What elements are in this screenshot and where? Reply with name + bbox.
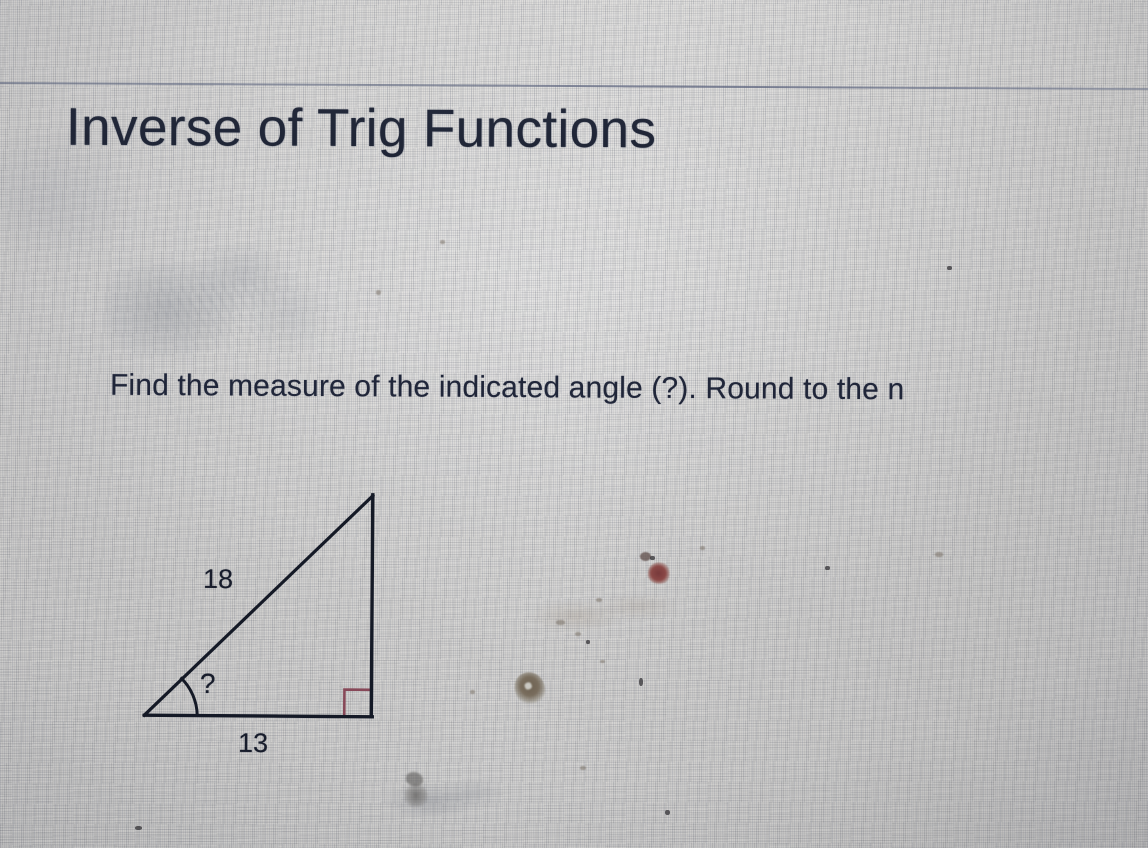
label-unknown-angle: ? xyxy=(200,668,216,700)
label-hypotenuse-18: 18 xyxy=(203,564,233,595)
label-adjacent-13: 13 xyxy=(238,728,268,759)
screenshot-root: Inverse of Trig Functions Find the measu… xyxy=(0,0,1148,848)
right-triangle-diagram: 18 13 ? xyxy=(120,470,450,790)
right-angle-marker xyxy=(344,690,371,717)
page-title: Inverse of Trig Functions xyxy=(66,97,657,161)
angle-arc-marker xyxy=(180,677,197,715)
triangle-side-hypotenuse xyxy=(144,494,373,717)
problem-prompt-text: Find the measure of the indicated angle … xyxy=(110,369,905,407)
triangle-side-opposite xyxy=(371,495,373,717)
triangle-side-adjacent xyxy=(144,715,372,717)
triangle-svg xyxy=(120,470,450,790)
